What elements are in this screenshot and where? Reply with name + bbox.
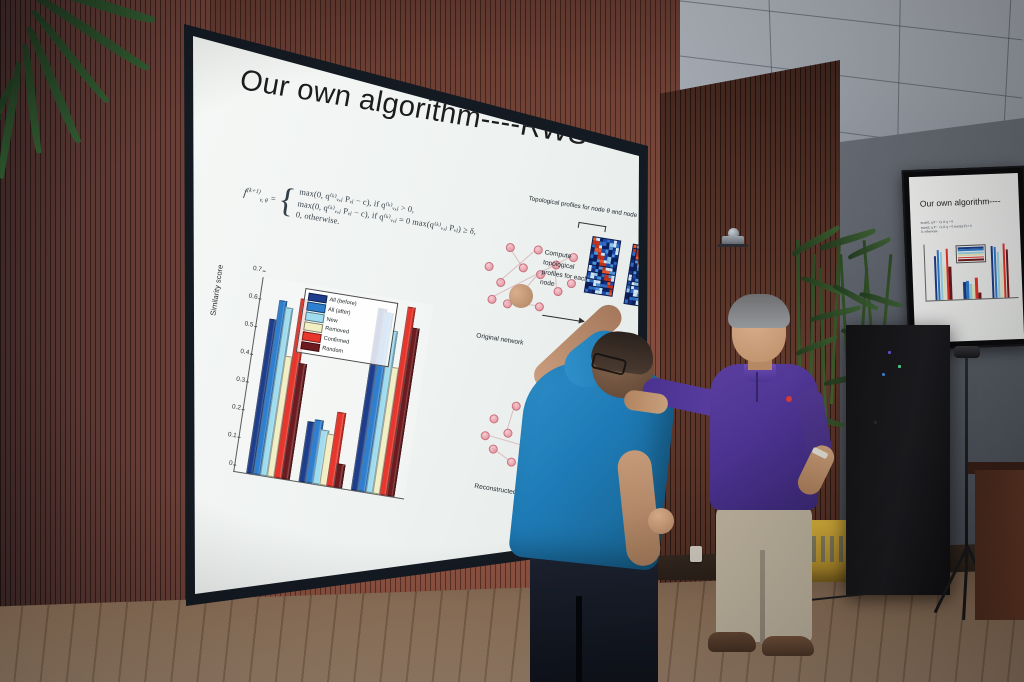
- secondary-monitor-formula: max(0, q P − c), if q > 0 max(0, q P − c…: [921, 219, 973, 235]
- chart-y-tick: 0.2: [232, 403, 242, 411]
- topological-profiles-label: Topological profiles for node θ and node…: [528, 195, 642, 220]
- similarity-score-bar-chart: Similarity score 00.10.20.30.40.50.60.7 …: [202, 263, 442, 524]
- network-node: [484, 261, 494, 271]
- mini-chart-group: [990, 241, 1010, 298]
- formula-lhs: f(k+1)v, θ: [242, 187, 269, 205]
- conference-room-photo: Our own algorithm----RWS f(k+1)v, θ = { …: [0, 0, 1024, 682]
- secondary-monitor-title: Our own algorithm----: [920, 196, 1001, 209]
- rack-led: [898, 365, 901, 368]
- chart-y-tick: 0.4: [240, 348, 250, 356]
- slide-formula: f(k+1)v, θ = { max(0, q⁽ᵏ⁾ᵥ,ⱼ Pᵥⱼ − c), …: [241, 178, 479, 247]
- colleague-shoe-right: [762, 636, 814, 656]
- mini-chart-group: [933, 244, 953, 301]
- legend-label: New: [326, 316, 338, 324]
- mini-chart-bar: [978, 292, 981, 298]
- podium: [975, 470, 1024, 620]
- colleague-pant-gap: [760, 550, 765, 644]
- mini-chart-bar: [949, 267, 953, 300]
- network-node: [533, 245, 543, 255]
- formula-cases: max(0, q⁽ᵏ⁾ᵥ,ⱼ Pᵥⱼ − c), if q⁽ᵏ⁾ᵥ,ⱼ > 0,…: [295, 186, 479, 247]
- mini-legend-swatch: [958, 258, 984, 261]
- network-node: [489, 414, 499, 424]
- chart-y-tick: 0.1: [227, 431, 237, 439]
- legend-label: All (after): [328, 307, 351, 317]
- network-node: [487, 294, 497, 304]
- secondary-monitor-legend: [956, 244, 987, 263]
- rack-led: [888, 351, 891, 354]
- network-node: [480, 431, 490, 441]
- legend-swatch: [300, 341, 320, 352]
- wall-camera: [718, 228, 748, 250]
- mini-chart-bar: [1005, 249, 1009, 297]
- presenter-lower-hand: [648, 508, 674, 534]
- rack-led: [882, 373, 885, 376]
- secondary-monitor-screen: Our own algorithm---- max(0, q P − c), i…: [909, 173, 1024, 343]
- formula-brace: {: [277, 186, 297, 215]
- chart-y-tick: 0.5: [244, 320, 254, 328]
- presenter-leg-gap: [576, 596, 582, 682]
- colleague-shoe-left: [708, 632, 756, 652]
- chart-y-tick: 0.6: [248, 293, 258, 301]
- chart-y-tick: 0: [228, 460, 233, 467]
- chart-y-axis-label: Similarity score: [208, 264, 225, 316]
- microphone-icon: [954, 346, 980, 358]
- person-presenter: [500, 300, 720, 682]
- chart-y-tick: 0.7: [252, 265, 262, 273]
- heatmap-cell: [609, 293, 613, 297]
- equipment-rack: [846, 325, 950, 595]
- secondary-monitor[interactable]: Our own algorithm---- max(0, q P − c), i…: [902, 166, 1024, 351]
- potted-palm-left: [0, 0, 200, 270]
- colleague-polo-placket: [756, 372, 758, 402]
- legend-label: Random: [322, 346, 344, 355]
- rack-led: [874, 421, 877, 424]
- network-node: [518, 263, 528, 273]
- colleague-hair: [728, 294, 790, 328]
- heatmap-node-theta: [584, 236, 622, 297]
- person-colleague: [690, 288, 850, 682]
- camera-mount-arm: [718, 244, 748, 247]
- profile-bracket: [578, 222, 607, 232]
- colleague-shirt-logo: [786, 396, 792, 402]
- chart-y-tick: 0.3: [236, 376, 246, 384]
- formula-equals: =: [270, 194, 276, 204]
